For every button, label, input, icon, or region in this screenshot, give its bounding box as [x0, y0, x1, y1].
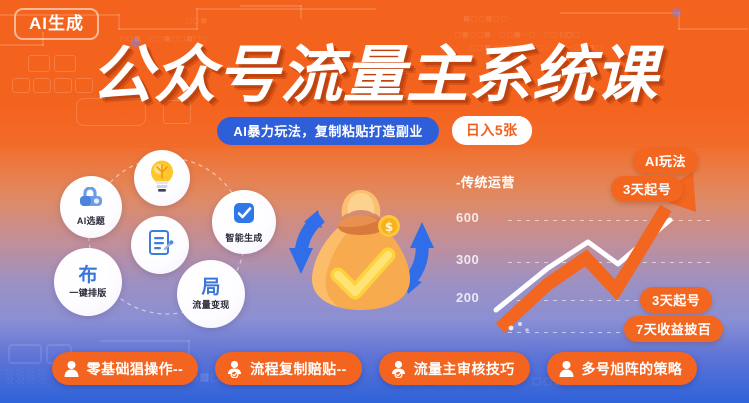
- lightbulb-icon: [147, 160, 177, 196]
- callout-ai-method: AI玩法: [633, 148, 698, 174]
- user-icon: [63, 360, 80, 378]
- smart-generate-icon: [231, 200, 257, 230]
- chart-series-ai: [500, 208, 666, 328]
- layout-icon: 布: [78, 266, 97, 285]
- user-check-icon: [226, 360, 243, 378]
- course-banner: □▢■ □▢■□▢■□▢ □▢■ ■□▢■□▢ □■▢□■ ▢□■—□ ▢□—□…: [0, 0, 749, 403]
- diagram-node-label: 流量变现: [192, 298, 229, 311]
- monetize-icon: 局: [201, 278, 220, 297]
- feature-button-label: 零基础猖操作--: [87, 359, 184, 379]
- diagram-node-smart-generate: 智能生成: [212, 190, 276, 254]
- ai-generated-badge: AI生成: [14, 8, 99, 40]
- diagram-node-layout: 布 一键排版: [54, 248, 122, 316]
- callout-7day-income: 7天收益披百: [624, 316, 723, 342]
- callout-3day-bottom: 3天起号: [640, 287, 712, 313]
- subtitle-row: AI暴力玩法，复制粘贴打造副业 日入5张: [0, 116, 749, 145]
- ai-workflow-diagram: AI选题 智能生成: [44, 148, 294, 328]
- document-icon: [145, 228, 175, 262]
- subtitle-main-pill: AI暴力玩法，复制粘贴打造副业: [217, 117, 439, 145]
- page-title: 公众号流量主系统课: [0, 44, 749, 106]
- feature-button-zero-basis[interactable]: 零基础猖操作--: [52, 352, 199, 385]
- diagram-node-lightbulb: [134, 150, 190, 206]
- growth-chart: -传统运营 600 300 200 AI玩法 3天起号 3天起号 7天收益披百: [448, 150, 744, 335]
- diagram-node-document: [131, 216, 189, 274]
- feature-button-copy-paste[interactable]: 流程复制赔贴--: [215, 352, 362, 385]
- feature-button-label: 流量主审核技巧: [414, 359, 515, 379]
- feature-button-label: 流程复制赔贴--: [250, 359, 347, 379]
- diagram-node-label: AI选题: [77, 214, 105, 227]
- ai-topic-icon: [78, 187, 104, 213]
- diagram-node-ai-topic: AI选题: [60, 176, 122, 238]
- feature-button-label: 多号旭阵的策略: [582, 359, 683, 379]
- feature-button-review-skill[interactable]: 流量主审核技巧: [379, 352, 530, 385]
- feature-button-row: 零基础猖操作-- 流程复制赔贴--: [0, 352, 749, 385]
- diagram-node-label: 智能生成: [225, 231, 262, 244]
- subtitle-highlight-pill: 日入5张: [452, 116, 532, 145]
- money-bag-illustration: $: [276, 182, 446, 317]
- user-check-icon: [390, 360, 407, 378]
- diagram-node-label: 一键排版: [69, 286, 106, 299]
- feature-button-multi-account[interactable]: 多号旭阵的策略: [547, 352, 698, 385]
- user-icon: [558, 360, 575, 378]
- svg-text:$: $: [385, 220, 393, 234]
- callout-3day-top: 3天起号: [611, 176, 683, 202]
- diagram-node-monetize: 局 流量变现: [177, 260, 245, 328]
